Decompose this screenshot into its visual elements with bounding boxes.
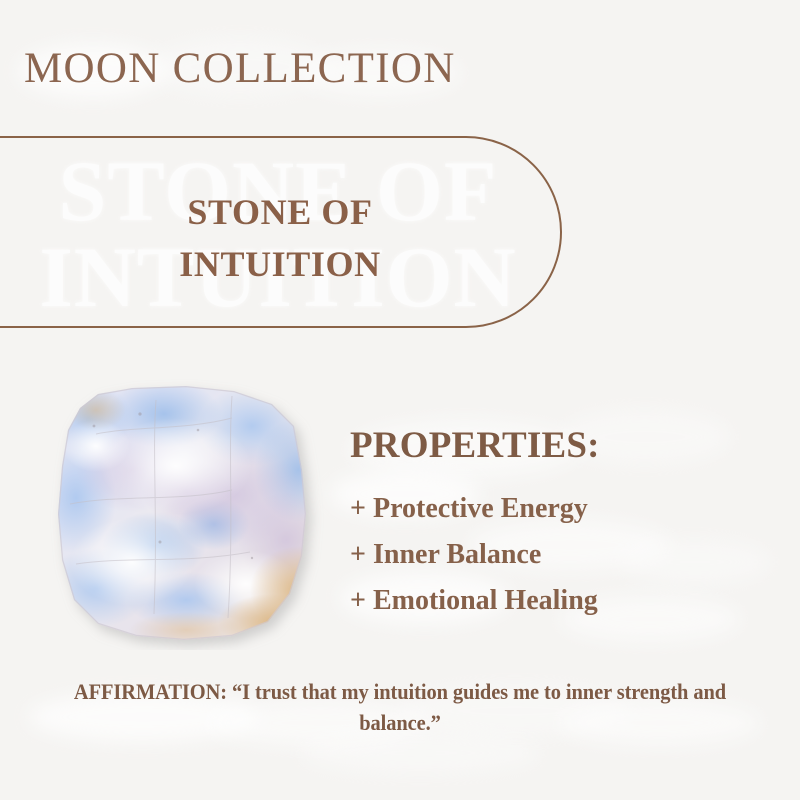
properties-heading: PROPERTIES: [350,424,600,468]
property-label: Inner Balance [373,539,541,570]
affirmation-block: AFFIRMATION: “I trust that my intuition … [65,676,735,738]
list-item: +Emotional Healing [350,578,600,624]
properties-list: +Protective Energy +Inner Balance +Emoti… [350,486,600,624]
properties-block: PROPERTIES: +Protective Energy +Inner Ba… [350,424,600,624]
plus-icon: + [350,486,366,532]
hero-title: STONE OF INTUITION [30,186,530,290]
plus-icon: + [350,578,366,624]
plus-icon: + [350,532,366,578]
affirmation-label: AFFIRMATION: [74,679,227,704]
moonstone-svg [36,374,332,650]
property-label: Emotional Healing [373,585,598,616]
moon-collection-card: MOON COLLECTION STONE OF INTUITION STONE… [0,0,800,800]
list-item: +Inner Balance [350,532,600,578]
collection-title: MOON COLLECTION [24,46,456,92]
moonstone-image [36,374,332,650]
list-item: +Protective Energy [350,486,600,532]
property-label: Protective Energy [373,493,588,524]
hero-title-line-1: STONE OF [30,186,530,238]
hero-title-line-2: INTUITION [30,238,530,290]
affirmation-quote: “I trust that my intuition guides me to … [232,679,726,735]
